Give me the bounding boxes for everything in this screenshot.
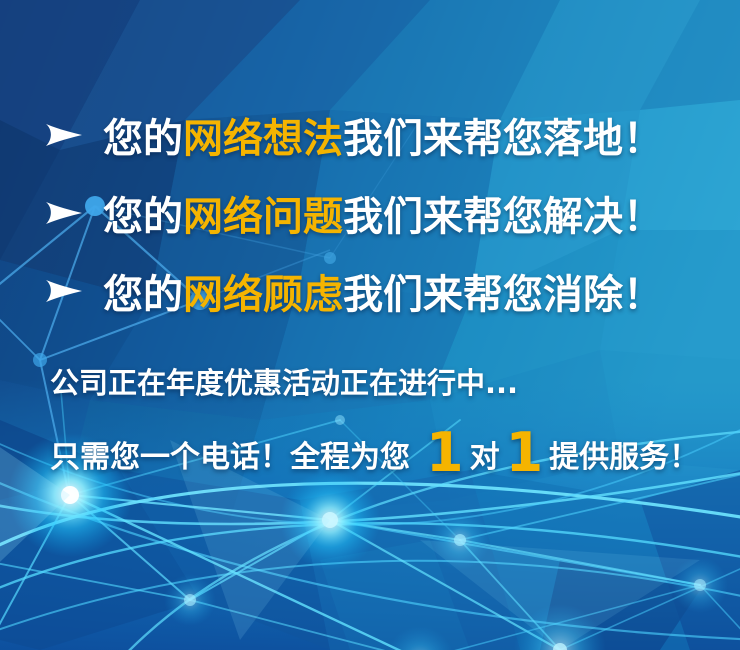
headline-prefix: 您的 — [103, 116, 183, 162]
promo-subtext-line-2: 只需您一个电话！全程为您1对1提供服务！ — [50, 427, 699, 476]
headline-row: 您的网络问题我们来帮您解决！ — [0, 174, 740, 252]
headline-suffix: 我们来帮您消除！ — [343, 272, 663, 318]
promo-subtext-line-1: 公司正在年度优惠活动正在进行中... — [50, 360, 518, 402]
headline-highlight: 网络问题 — [183, 194, 343, 240]
arrow-right-triangle-icon — [44, 121, 84, 149]
arrow-right-triangle-icon — [44, 199, 84, 227]
headline-text: 您的网络问题我们来帮您解决！ — [103, 184, 663, 242]
service-ratio-number-second: 1 — [500, 431, 550, 474]
headline-list: 您的网络想法我们来帮您落地！ 您的网络问题我们来帮您解决！ 您的网络顾虑我们来帮… — [0, 96, 740, 330]
headline-row: 您的网络想法我们来帮您落地！ — [0, 96, 740, 174]
headline-row: 您的网络顾虑我们来帮您消除！ — [0, 252, 740, 330]
promo-banner: 您的网络想法我们来帮您落地！ 您的网络问题我们来帮您解决！ 您的网络顾虑我们来帮… — [0, 0, 740, 650]
headline-text: 您的网络想法我们来帮您落地！ — [103, 106, 663, 164]
subtext-part-1: 只需您一个电话！全程为您 — [50, 432, 410, 476]
headline-highlight: 网络顾虑 — [183, 272, 343, 318]
headline-highlight: 网络想法 — [183, 116, 343, 162]
banner-content: 您的网络想法我们来帮您落地！ 您的网络问题我们来帮您解决！ 您的网络顾虑我们来帮… — [0, 0, 740, 650]
subtext-part-2: 提供服务！ — [549, 432, 699, 476]
headline-prefix: 您的 — [103, 272, 183, 318]
headline-suffix: 我们来帮您落地！ — [343, 116, 663, 162]
service-ratio-number-first: 1 — [420, 431, 470, 474]
headline-text: 您的网络顾虑我们来帮您消除！ — [103, 262, 663, 320]
headline-suffix: 我们来帮您解决！ — [343, 194, 663, 240]
headline-prefix: 您的 — [103, 194, 183, 240]
service-ratio-middle: 对 — [470, 432, 500, 476]
arrow-right-triangle-icon — [44, 277, 84, 305]
